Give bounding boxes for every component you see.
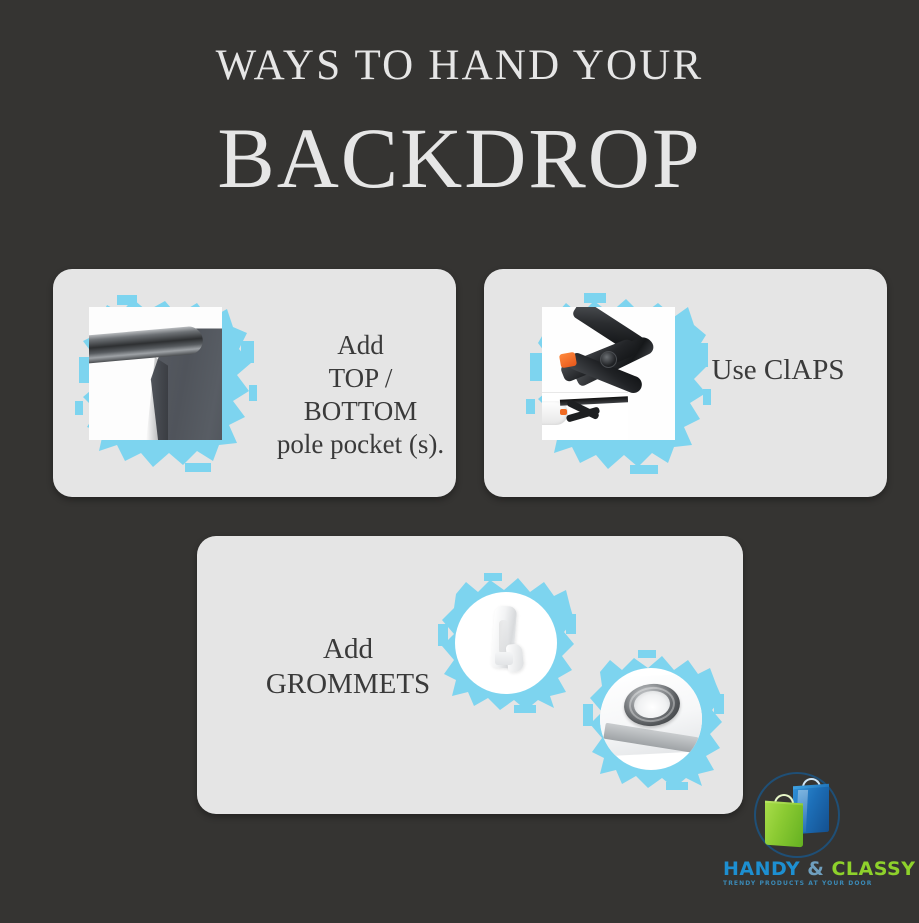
logo-wordmark-classy: CLASSY [831,858,915,880]
shopping-bag-green-icon [765,803,803,848]
pole-text-line-2: TOP / BOTTOM [273,362,448,428]
spring-clamp-photo [542,307,675,440]
card-pole-pocket[interactable]: Add TOP / BOTTOM pole pocket (s). [53,269,456,497]
title-line-1: WAYS TO HAND YOUR [0,44,919,87]
card-clamps-text: Use ClAPS [680,353,876,388]
logo-tagline: TRENDY PRODUCTS AT YOUR DOOR [723,880,871,887]
logo-wordmark: HANDY & CLASSY [723,860,871,879]
logo-wordmark-handy: HANDY [723,858,800,880]
adhesive-hook-photo [455,592,557,694]
page-title: WAYS TO HAND YOUR BACKDROP [0,44,919,201]
card-grommets-text: Add GROMMETS [233,632,463,703]
card-clamps[interactable]: Use ClAPS [484,269,887,497]
infographic-poster: WAYS TO HAND YOUR BACKDROP Add TOP / BOT… [0,0,919,923]
logo-wordmark-ampersand: & [800,858,831,880]
grommet-text-line-2: GROMMETS [233,667,463,702]
title-line-2: BACKDROP [0,115,919,201]
pole-text-line-3: pole pocket (s). [273,428,448,461]
card-grommets[interactable]: Add GROMMETS [197,536,743,814]
backdrop-pole-pocket-photo [89,307,222,440]
pole-text-line-1: Add [273,329,448,362]
card-pole-pocket-text: Add TOP / BOTTOM pole pocket (s). [273,329,448,461]
grommet-text-line-1: Add [233,632,463,667]
brand-logo[interactable]: HANDY & CLASSY TRENDY PRODUCTS AT YOUR D… [723,772,871,890]
metal-grommet-photo [600,668,702,770]
clamp-in-use-inset [542,392,628,440]
